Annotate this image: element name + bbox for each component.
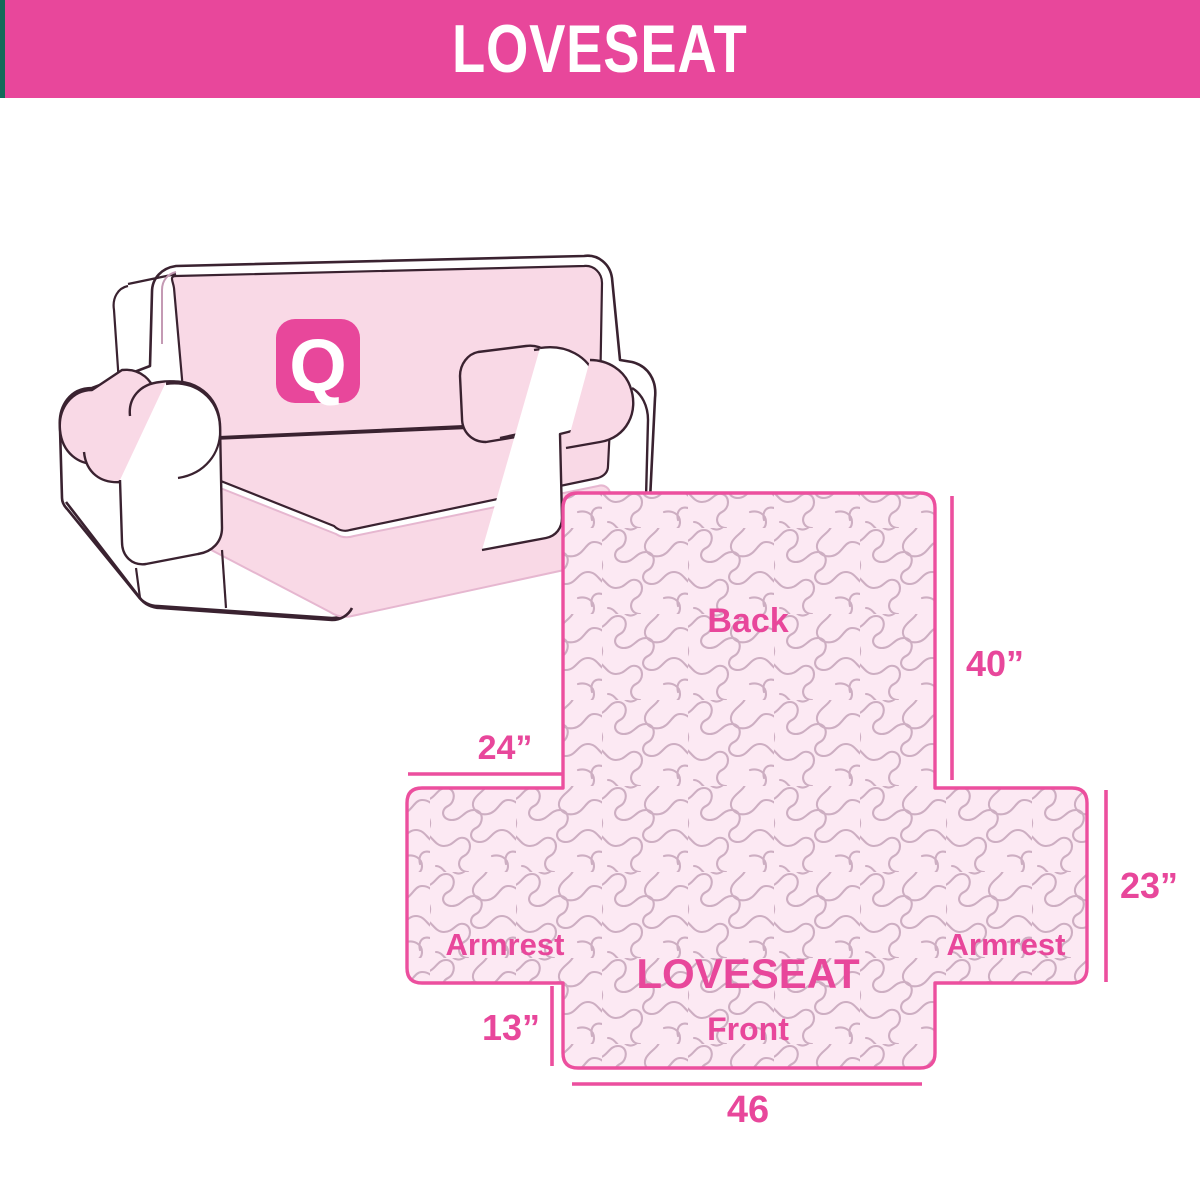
panel-label-front: Front [707, 1011, 789, 1047]
logo-letter-q: Q [289, 324, 347, 407]
header-banner: LOVESEAT [0, 0, 1200, 98]
page-title: LOVESEAT [452, 15, 748, 83]
diagram-svg: Q Back LOVESEAT Armrest Armrest Front 40… [0, 98, 1200, 1200]
dim-label-armrest-width: 24” [478, 729, 533, 767]
panel-label-armrest-left: Armrest [446, 927, 565, 962]
dim-label-back-height: 40” [966, 643, 1024, 684]
panel-label-back: Back [707, 602, 788, 640]
diagram-canvas: Q Back LOVESEAT Armrest Armrest Front 40… [0, 98, 1200, 1200]
dim-label-front-width: 46 [727, 1089, 769, 1131]
dim-label-seat-height: 23” [1120, 865, 1178, 906]
brand-logo: Q [276, 319, 360, 407]
dim-label-front-height: 13” [482, 1007, 540, 1048]
cover-diagram: Back LOVESEAT Armrest Armrest Front 40” … [407, 493, 1178, 1131]
header-edge-strip [0, 0, 5, 98]
panel-label-center: LOVESEAT [636, 950, 860, 997]
panel-label-armrest-right: Armrest [947, 927, 1066, 962]
